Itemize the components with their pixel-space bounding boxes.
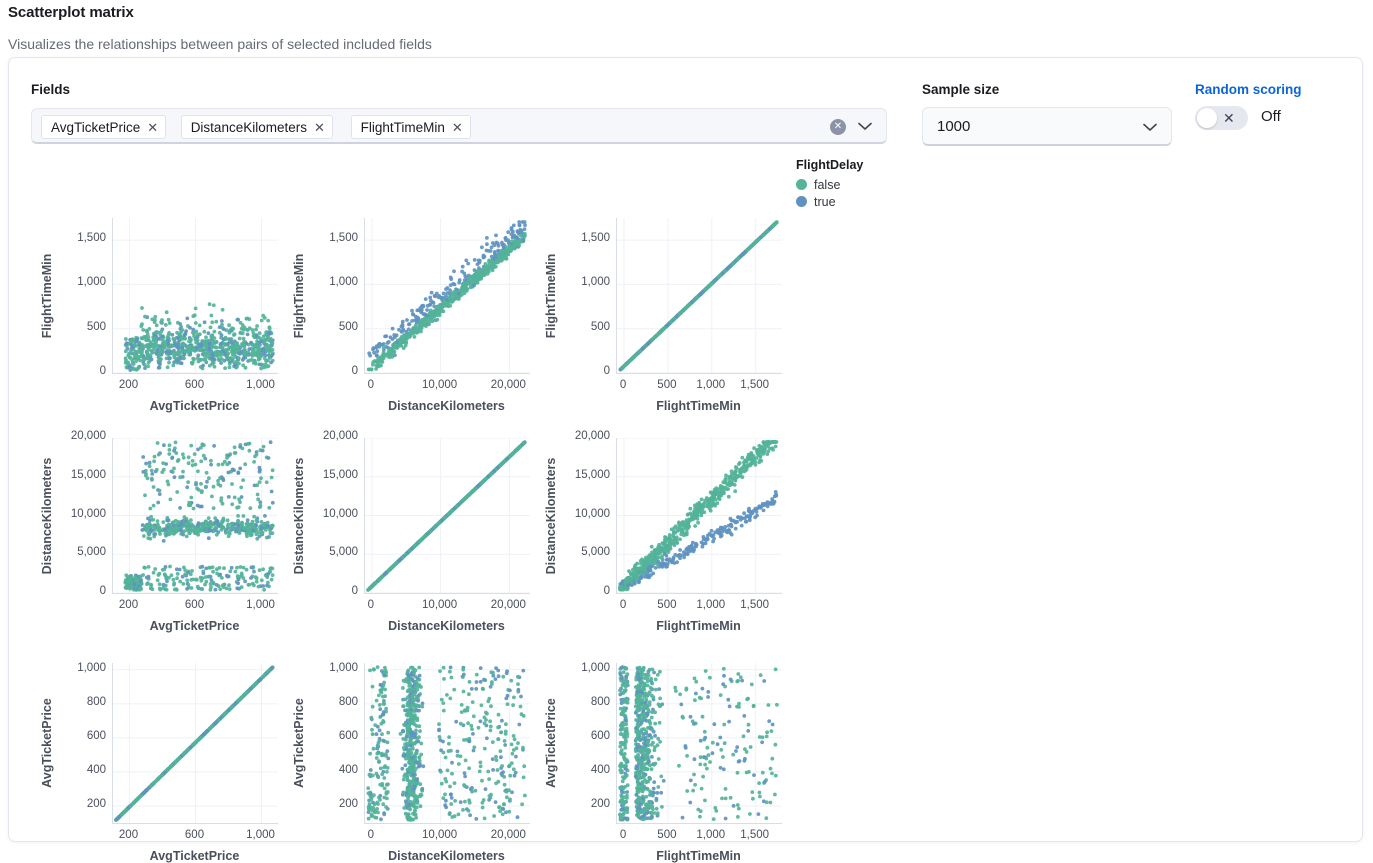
y-axis-tick-label: 1,500 <box>50 232 106 244</box>
x-axis-title: FlightTimeMin <box>566 619 831 633</box>
plot-area[interactable] <box>364 438 530 594</box>
y-axis-tick-label: 600 <box>50 730 106 742</box>
y-axis-tick-label: 15,000 <box>50 469 106 481</box>
clear-fields-icon[interactable]: ✕ <box>830 119 846 135</box>
y-axis-tick-label: 0 <box>554 585 610 597</box>
remove-field-icon[interactable]: ✕ <box>452 121 463 134</box>
legend-color-swatch <box>796 179 807 190</box>
y-axis-tick-label: 1,000 <box>302 662 358 674</box>
y-axis-tick-label: 20,000 <box>302 430 358 442</box>
legend-items: falsetrue <box>796 176 863 210</box>
y-axis-title: FlightTimeMin <box>40 253 54 338</box>
y-axis-tick-label: 5,000 <box>554 546 610 558</box>
y-axis-tick-label: 20,000 <box>554 430 610 442</box>
y-axis-tick-label: 400 <box>50 764 106 776</box>
y-axis-tick-label: 0 <box>554 365 610 377</box>
x-axis-tick-label: 1,000 <box>221 599 301 611</box>
x-axis-title: DistanceKilometers <box>314 849 579 863</box>
y-axis-tick-label: 10,000 <box>302 508 358 520</box>
field-pill-flighttimemin[interactable]: FlightTimeMin✕ <box>351 115 471 139</box>
page-title: Scatterplot matrix <box>8 4 134 21</box>
x-axis-title: AvgTicketPrice <box>62 619 327 633</box>
x-axis-tick-label: 20,000 <box>468 379 548 391</box>
y-axis-tick-label: 0 <box>50 585 106 597</box>
x-axis-tick-label: 1,000 <box>221 379 301 391</box>
y-axis-tick-label: 600 <box>302 730 358 742</box>
x-axis-tick-label: 1,000 <box>221 829 301 841</box>
x-axis-title: FlightTimeMin <box>566 849 831 863</box>
field-pill-label: DistanceKilometers <box>191 120 307 135</box>
y-axis-tick-label: 1,000 <box>50 662 106 674</box>
field-pill-avgticketprice[interactable]: AvgTicketPrice✕ <box>41 115 166 139</box>
plot-area[interactable] <box>112 218 278 374</box>
legend-item-false[interactable]: false <box>796 176 863 193</box>
random-scoring-state: Off <box>1261 108 1281 125</box>
y-axis-title: FlightTimeMin <box>544 253 558 338</box>
y-axis-tick-label: 1,000 <box>554 276 610 288</box>
x-axis-tick-label: 1,500 <box>715 379 795 391</box>
plot-area[interactable] <box>112 438 278 594</box>
y-axis-tick-label: 500 <box>50 321 106 333</box>
y-axis-tick-label: 800 <box>50 696 106 708</box>
y-axis-tick-label: 0 <box>302 585 358 597</box>
scatterplot-matrix-page: Scatterplot matrix Visualizes the relati… <box>0 0 1373 859</box>
x-axis-title: DistanceKilometers <box>314 619 579 633</box>
y-axis-tick-label: 1,500 <box>554 232 610 244</box>
y-axis-tick-label: 600 <box>554 730 610 742</box>
y-axis-title: FlightTimeMin <box>292 253 306 338</box>
y-axis-tick-label: 200 <box>50 798 106 810</box>
y-axis-tick-label: 1,000 <box>554 662 610 674</box>
scatterplot-matrix-panel: Fields AvgTicketPrice✕DistanceKilometers… <box>8 57 1363 842</box>
plot-area[interactable] <box>616 438 782 594</box>
legend-item-label: true <box>814 195 836 209</box>
y-axis-tick-label: 0 <box>302 365 358 377</box>
y-axis-tick-label: 400 <box>554 764 610 776</box>
field-pill-label: AvgTicketPrice <box>51 120 140 135</box>
y-axis-tick-label: 200 <box>302 798 358 810</box>
chevron-down-icon-sample[interactable] <box>1143 123 1157 132</box>
plot-area[interactable] <box>364 218 530 374</box>
sample-size-value: 1000 <box>937 118 970 135</box>
y-axis-title: AvgTicketPrice <box>544 698 558 788</box>
x-axis-tick-label: 20,000 <box>468 829 548 841</box>
y-axis-tick-label: 15,000 <box>302 469 358 481</box>
y-axis-tick-label: 0 <box>50 365 106 377</box>
y-axis-tick-label: 5,000 <box>302 546 358 558</box>
remove-field-icon[interactable]: ✕ <box>147 121 158 134</box>
legend-title: FlightDelay <box>796 158 863 172</box>
y-axis-tick-label: 800 <box>554 696 610 708</box>
y-axis-tick-label: 5,000 <box>50 546 106 558</box>
plot-area[interactable] <box>616 663 782 824</box>
sample-size-label: Sample size <box>922 82 999 97</box>
y-axis-tick-label: 10,000 <box>554 508 610 520</box>
legend-color-swatch <box>796 196 807 207</box>
sample-size-select[interactable]: 1000 <box>922 107 1172 146</box>
toggle-knob <box>1197 108 1217 128</box>
page-subtitle: Visualizes the relationships between pai… <box>8 36 432 52</box>
x-axis-title: AvgTicketPrice <box>62 849 327 863</box>
x-axis-tick-label: 1,500 <box>715 599 795 611</box>
x-axis-title: AvgTicketPrice <box>62 399 327 413</box>
y-axis-title: DistanceKilometers <box>544 457 558 574</box>
y-axis-tick-label: 1,000 <box>50 276 106 288</box>
x-axis-title: FlightTimeMin <box>566 399 831 413</box>
field-pill-label: FlightTimeMin <box>361 120 445 135</box>
y-axis-tick-label: 200 <box>554 798 610 810</box>
y-axis-tick-label: 500 <box>302 321 358 333</box>
y-axis-title: DistanceKilometers <box>40 457 54 574</box>
y-axis-title: AvgTicketPrice <box>292 698 306 788</box>
y-axis-tick-label: 400 <box>302 764 358 776</box>
y-axis-tick-label: 800 <box>302 696 358 708</box>
chevron-down-icon[interactable] <box>858 122 872 131</box>
legend-item-label: false <box>814 178 840 192</box>
plot-area[interactable] <box>364 663 530 824</box>
toggle-off-icon: ✕ <box>1223 109 1235 127</box>
y-axis-tick-label: 20,000 <box>50 430 106 442</box>
y-axis-tick-label: 15,000 <box>554 469 610 481</box>
plot-area[interactable] <box>616 218 782 374</box>
x-axis-tick-label: 1,500 <box>715 829 795 841</box>
random-scoring-toggle[interactable]: ✕ <box>1195 106 1248 130</box>
y-axis-title: DistanceKilometers <box>292 457 306 574</box>
y-axis-tick-label: 1,500 <box>302 232 358 244</box>
plot-area[interactable] <box>112 663 278 824</box>
fields-combobox[interactable]: AvgTicketPrice✕DistanceKilometers✕Flight… <box>31 108 887 144</box>
legend-item-true[interactable]: true <box>796 193 863 210</box>
random-scoring-label[interactable]: Random scoring <box>1195 82 1302 97</box>
field-pill-distancekilometers[interactable]: DistanceKilometers✕ <box>181 115 333 139</box>
x-axis-tick-label: 20,000 <box>468 599 548 611</box>
y-axis-tick-label: 500 <box>554 321 610 333</box>
remove-field-icon[interactable]: ✕ <box>314 121 325 134</box>
y-axis-tick-label: 10,000 <box>50 508 106 520</box>
y-axis-title: AvgTicketPrice <box>40 698 54 788</box>
fields-label: Fields <box>31 82 70 97</box>
y-axis-tick-label: 1,000 <box>302 276 358 288</box>
legend: FlightDelay falsetrue <box>796 158 863 210</box>
x-axis-title: DistanceKilometers <box>314 399 579 413</box>
